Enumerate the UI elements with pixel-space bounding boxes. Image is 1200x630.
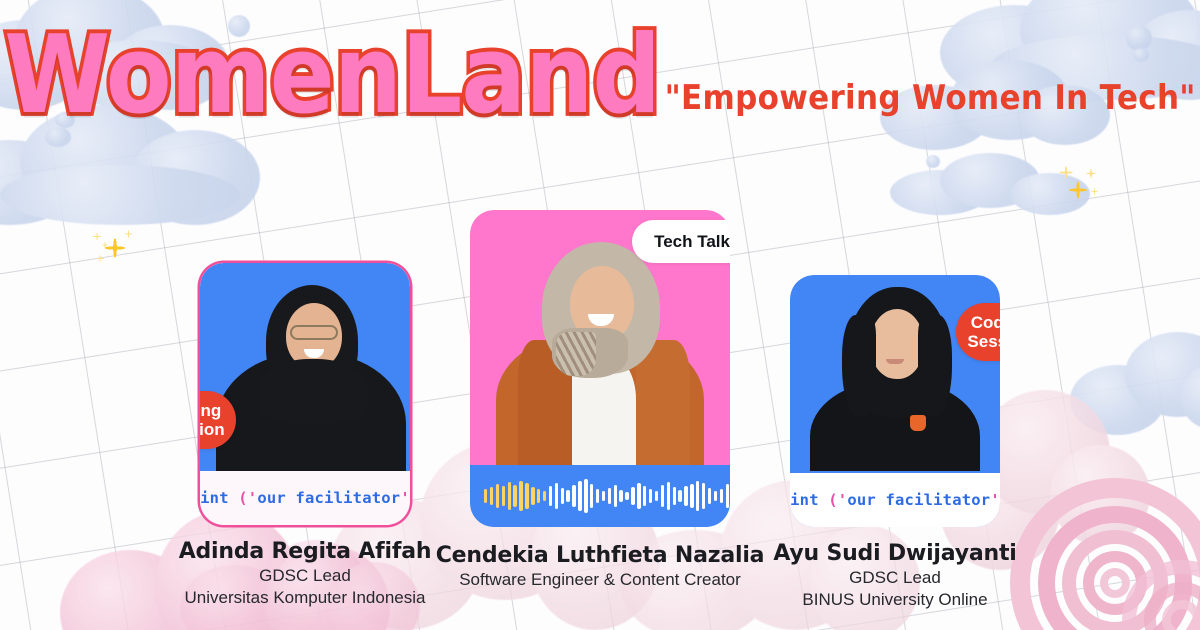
poster-header: WomenLand "Empowering Women In Tech" <box>0 24 1200 128</box>
code-open-paren: (' <box>819 491 848 509</box>
waveform-bar <box>566 490 569 502</box>
figure-hair-right <box>918 315 952 417</box>
speaker-caption: Adinda Regita Afifah GDSC Lead Universit… <box>160 539 450 608</box>
waveform-bar <box>702 483 705 509</box>
figure-hair-left <box>842 315 876 417</box>
speaker-name: Cendekia Luthfieta Nazalia <box>435 543 765 568</box>
speaker-card-frame: 42 : 13 Tech Talk <box>470 210 730 527</box>
waveform-bar <box>572 485 575 507</box>
waveform-bar <box>608 488 611 504</box>
waveform-bar <box>590 484 593 508</box>
code-string: our facilitator <box>847 491 990 509</box>
speaker-figure <box>200 263 410 471</box>
waveform-bar <box>690 484 693 508</box>
waveform-bar <box>531 487 534 505</box>
speaker-card-frame: print ('our facilitator'); Coding Sessio… <box>790 275 1000 527</box>
waveform-bar <box>602 491 605 501</box>
speaker-org: Universitas Komputer Indonesia <box>160 588 450 608</box>
speaker-card[interactable]: print ('our facilitator'); Coding Sessio… <box>160 263 450 608</box>
waveform-bar <box>637 483 640 509</box>
speaker-card-frame: print ('our facilitator'); Coding Sessio… <box>200 263 410 525</box>
waveform-bar <box>537 489 540 503</box>
waveform-bar <box>673 487 676 505</box>
waveform-bar <box>513 485 516 507</box>
waveform-bar <box>525 483 528 509</box>
poster-tagline: "Empowering Women In Tech" <box>665 78 1196 118</box>
sparkle-icon <box>1055 162 1105 208</box>
code-keyword: print <box>200 489 229 507</box>
speaker-card[interactable]: print ('our facilitator'); Coding Sessio… <box>750 275 1040 610</box>
badge-line-1: Coding <box>200 401 221 420</box>
waveform-bar <box>561 488 564 504</box>
code-footer: print ('our facilitator'); <box>200 471 410 525</box>
waveform-bar <box>661 485 664 507</box>
waveform-bar <box>649 489 652 503</box>
speaker-name: Ayu Sudi Dwijayanti <box>750 541 1040 566</box>
waveform-bar <box>614 485 617 507</box>
waveform-bar <box>720 489 723 503</box>
figure-scarf-pattern <box>556 332 596 376</box>
code-string: our facilitator <box>257 489 400 507</box>
audio-player-footer[interactable]: 42 : 13 <box>470 465 730 527</box>
speaker-figure <box>790 275 1000 473</box>
waveform-bar <box>714 491 717 501</box>
speakers-row: print ('our facilitator'); Coding Sessio… <box>0 205 1200 625</box>
speaker-role: Software Engineer & Content Creator <box>435 570 765 590</box>
figure-face <box>870 309 924 379</box>
waveform-bar <box>625 492 628 500</box>
waveform-bar <box>555 483 558 509</box>
code-line: print ('our facilitator'); <box>790 491 1000 509</box>
waveform-bar <box>678 490 681 502</box>
waveform-bar <box>584 479 587 513</box>
waveform-bar <box>655 491 658 501</box>
poster-title: WomenLand <box>4 18 660 134</box>
waveform-bar <box>596 489 599 503</box>
waveform-bar <box>696 481 699 511</box>
speaker-org: BINUS University Online <box>750 590 1040 610</box>
waveform-bar <box>726 484 729 508</box>
code-line: print ('our facilitator'); <box>200 489 410 507</box>
badge-line-2: Session <box>200 420 225 439</box>
speaker-photo <box>790 275 1000 473</box>
waveform-bar <box>496 484 499 508</box>
waveform-bar <box>578 481 581 511</box>
speaker-photo <box>200 263 410 471</box>
figure-glasses <box>290 325 338 340</box>
waveform-bar <box>708 488 711 504</box>
figure-mouth <box>886 359 904 364</box>
code-close-paren: '); <box>400 489 410 507</box>
waveform-bar <box>502 486 505 506</box>
badge-line-2: Session <box>967 332 1000 351</box>
waveform-bar <box>519 481 522 511</box>
speaker-role: GDSC Lead <box>750 568 1040 588</box>
speaker-caption: Cendekia Luthfieta Nazalia Software Engi… <box>435 543 765 590</box>
waveform-bar <box>667 482 670 510</box>
waveform-bar <box>631 487 634 505</box>
code-open-paren: (' <box>229 489 258 507</box>
waveform-bar <box>543 491 546 501</box>
waveform-bar <box>508 482 511 510</box>
speaker-name: Adinda Regita Afifah <box>160 539 450 564</box>
shirt-logo-icon <box>910 415 926 431</box>
session-badge[interactable]: Tech Talk <box>632 220 730 263</box>
speaker-card[interactable]: 42 : 13 Tech Talk Cendekia Luthfieta Naz… <box>435 210 765 590</box>
audio-waveform[interactable] <box>484 479 730 513</box>
code-close-paren: '); <box>990 491 1000 509</box>
speaker-role: GDSC Lead <box>160 566 450 586</box>
waveform-bar <box>490 487 493 505</box>
waveform-bar <box>484 489 487 503</box>
badge-line-1: Coding <box>971 313 1000 332</box>
speaker-caption: Ayu Sudi Dwijayanti GDSC Lead BINUS Univ… <box>750 541 1040 610</box>
waveform-bar <box>684 486 687 506</box>
figure-hijab-drape <box>258 359 368 423</box>
waveform-bar <box>643 486 646 506</box>
poster-canvas: WomenLand "Empowering Women In Tech" <box>0 0 1200 630</box>
waveform-bar <box>619 490 622 502</box>
cloud-decoration <box>926 155 940 168</box>
code-keyword: print <box>790 491 819 509</box>
badge-line-1: Tech Talk <box>654 232 730 251</box>
waveform-bar <box>549 486 552 506</box>
code-footer: print ('our facilitator'); <box>790 473 1000 527</box>
